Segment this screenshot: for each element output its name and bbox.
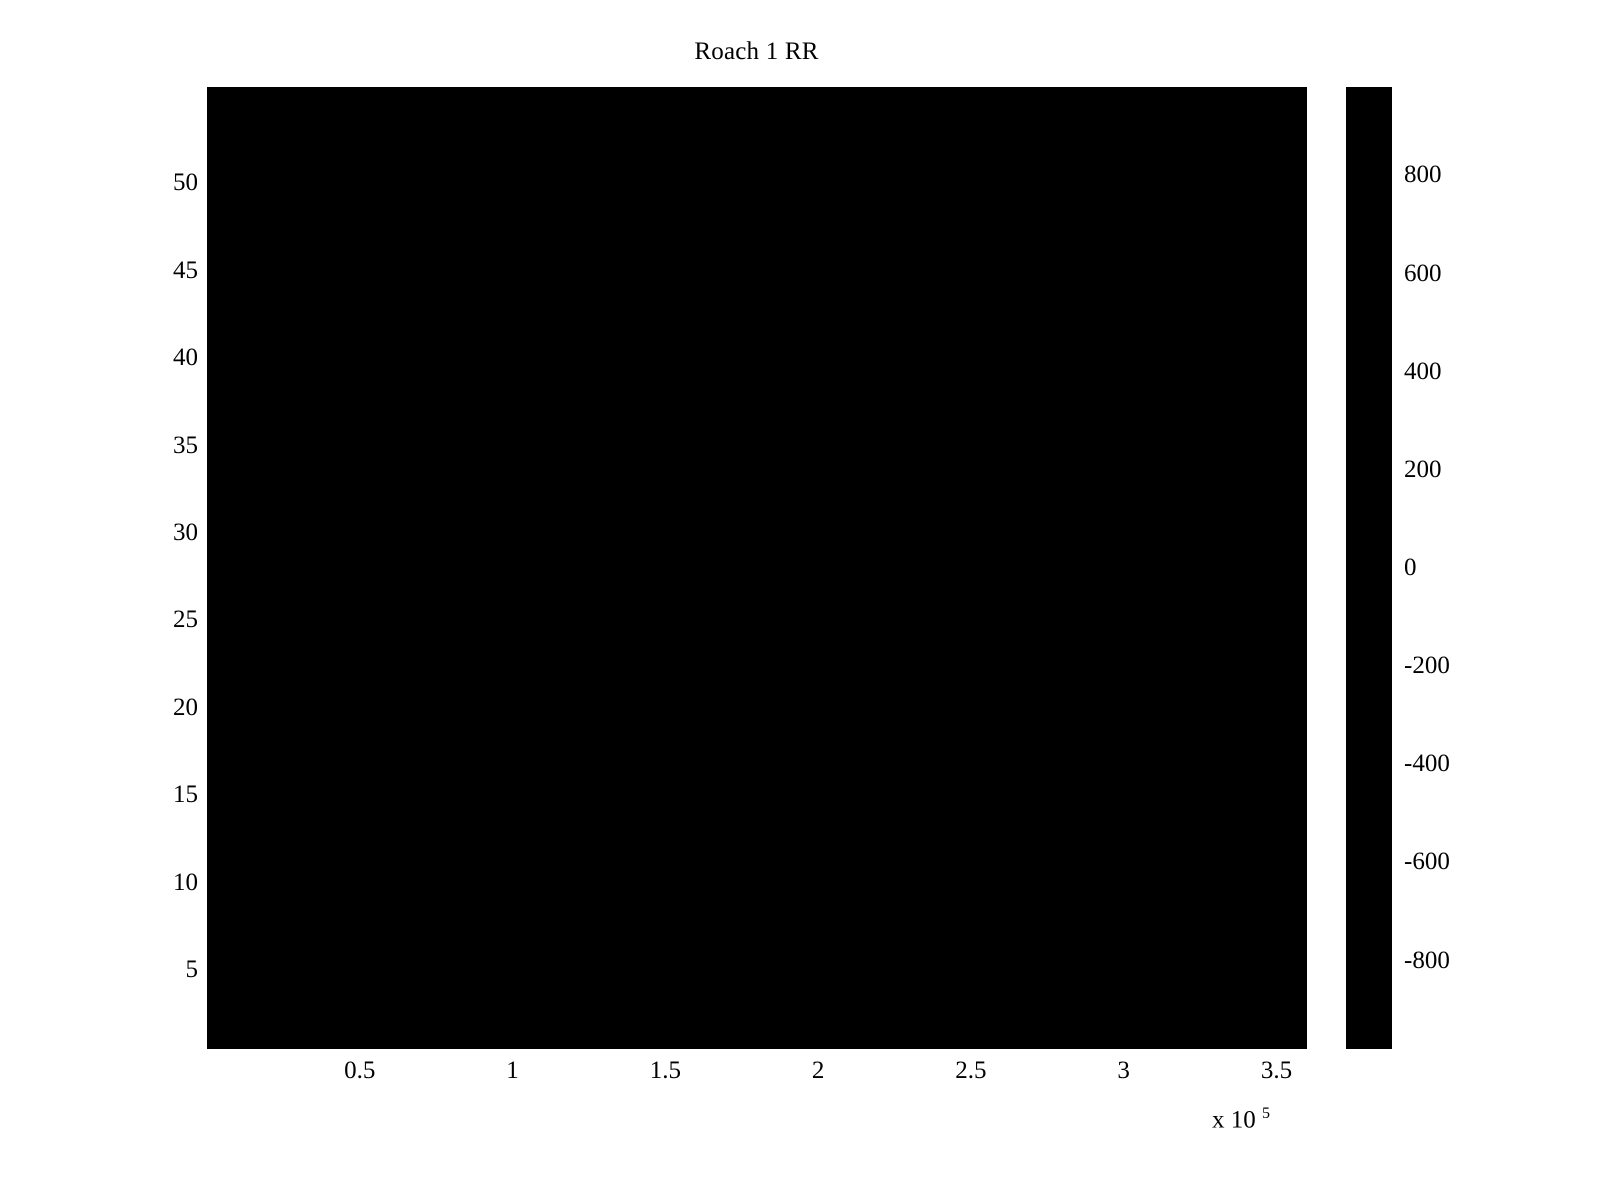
y-axis-tick-mark (1296, 447, 1305, 449)
figure-container: Roach 1 RR 5101520253035404550 0.511.522… (0, 0, 1600, 1200)
y-axis-tick-mark (1296, 796, 1305, 798)
y-axis-tick-mark (209, 796, 218, 798)
colorbar-tick-mark (1348, 275, 1357, 277)
colorbar-tick-label: -800 (1404, 947, 1450, 975)
x-axis-tick-label: 3.5 (1261, 1057, 1292, 1085)
colorbar-tick-mark (1381, 765, 1390, 767)
y-axis-tick-mark (209, 709, 218, 711)
colorbar-tick-mark (1348, 765, 1357, 767)
heatmap-image (209, 89, 1305, 1047)
colorbar-tick-label: 400 (1404, 358, 1442, 386)
y-axis-tick-mark (1296, 184, 1305, 186)
x-axis-tick-label: 1 (506, 1057, 519, 1085)
colorbar-tick-mark (1348, 373, 1357, 375)
y-axis-tick-label: 20 (173, 694, 198, 722)
x-axis-tick-mark (1277, 1038, 1279, 1047)
y-axis-tick-mark (1296, 272, 1305, 274)
colorbar-tick-label: 800 (1404, 161, 1442, 189)
heatmap-axes[interactable] (207, 87, 1307, 1049)
colorbar-tick-mark (1348, 667, 1357, 669)
x-axis-tick-label: 1.5 (650, 1057, 681, 1085)
colorbar-tick-mark (1348, 176, 1357, 178)
x-axis-tick-mark (514, 89, 516, 98)
y-axis-tick-mark (209, 534, 218, 536)
x-axis-tick-mark (972, 89, 974, 98)
colorbar-tick-mark (1381, 373, 1390, 375)
x-axis-tick-label: 2.5 (955, 1057, 986, 1085)
y-axis-tick-label: 5 (186, 956, 199, 984)
y-axis-tick-label: 15 (173, 781, 198, 809)
colorbar-tick-mark (1348, 863, 1357, 865)
y-axis-tick-mark (1296, 709, 1305, 711)
colorbar-gradient (1348, 89, 1390, 1047)
colorbar-tick-label: -400 (1404, 750, 1450, 778)
x-axis-tick-mark (666, 89, 668, 98)
colorbar-tick-mark (1381, 569, 1390, 571)
x-axis-tick-labels: 0.511.522.533.5 (207, 1057, 1307, 1097)
y-axis-tick-mark (209, 971, 218, 973)
page-title: Roach 1 RR (0, 38, 1513, 66)
y-axis-tick-mark (209, 184, 218, 186)
x-axis-tick-mark (514, 1038, 516, 1047)
colorbar-tick-mark (1381, 275, 1390, 277)
y-axis-tick-mark (1296, 534, 1305, 536)
colorbar-tick-label: -200 (1404, 652, 1450, 680)
colorbar-tick-mark (1348, 471, 1357, 473)
colorbar-tick-label: 600 (1404, 260, 1442, 288)
x-axis-tick-label: 3 (1117, 1057, 1130, 1085)
colorbar-tick-mark (1348, 569, 1357, 571)
y-axis-tick-mark (1296, 971, 1305, 973)
x-axis-tick-mark (819, 89, 821, 98)
x-axis-tick-mark (361, 89, 363, 98)
y-axis-tick-label: 40 (173, 344, 198, 372)
y-axis-tick-mark (209, 272, 218, 274)
y-axis-tick-mark (1296, 621, 1305, 623)
colorbar[interactable] (1346, 87, 1392, 1049)
x-axis-tick-mark (1125, 1038, 1127, 1047)
y-axis-tick-label: 30 (173, 519, 198, 547)
y-axis-tick-mark (209, 447, 218, 449)
y-axis-tick-label: 10 (173, 869, 198, 897)
colorbar-tick-mark (1381, 667, 1390, 669)
x-axis-tick-label: 2 (812, 1057, 825, 1085)
y-axis-tick-labels: 5101520253035404550 (130, 87, 198, 1049)
y-axis-tick-mark (1296, 359, 1305, 361)
colorbar-tick-mark (1381, 962, 1390, 964)
y-axis-tick-mark (209, 621, 218, 623)
x-axis-tick-mark (666, 1038, 668, 1047)
colorbar-tick-mark (1381, 863, 1390, 865)
x-axis-tick-mark (361, 1038, 363, 1047)
y-axis-tick-label: 50 (173, 169, 198, 197)
y-axis-tick-label: 35 (173, 432, 198, 460)
colorbar-tick-mark (1381, 176, 1390, 178)
colorbar-tick-mark (1348, 962, 1357, 964)
x-axis-tick-mark (1125, 89, 1127, 98)
x-axis-tick-mark (819, 1038, 821, 1047)
x-axis-tick-mark (1277, 89, 1279, 98)
x-axis-tick-mark (972, 1038, 974, 1047)
colorbar-tick-mark (1381, 471, 1390, 473)
colorbar-tick-label: 0 (1404, 554, 1417, 582)
x-axis-tick-label: 0.5 (344, 1057, 375, 1085)
y-axis-tick-mark (209, 884, 218, 886)
colorbar-tick-label: -600 (1404, 848, 1450, 876)
y-axis-tick-mark (1296, 884, 1305, 886)
colorbar-tick-label: 200 (1404, 456, 1442, 484)
y-axis-tick-label: 45 (173, 257, 198, 285)
x-axis-exponent-label: x 10 5 (1212, 1105, 1270, 1134)
y-axis-tick-mark (209, 359, 218, 361)
y-axis-tick-label: 25 (173, 606, 198, 634)
